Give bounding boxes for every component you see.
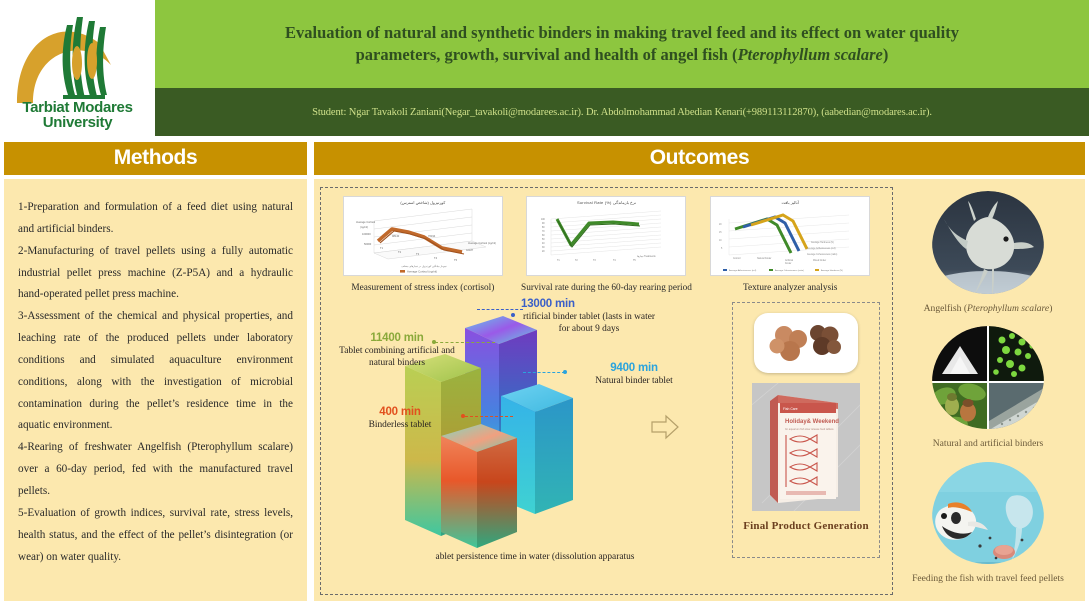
caption-pre-0: Angelfish ( [924, 303, 967, 314]
title-species-name: Pterophyllum scalare [738, 45, 883, 64]
logo-mark-icon [7, 3, 149, 108]
leader-line-artificial [477, 309, 523, 310]
svg-text:5: 5 [721, 248, 723, 250]
leader-line-combined [435, 342, 495, 343]
chart-bottom-caption: ablet persistence time in water (dissolu… [325, 552, 745, 562]
svg-text:20: 20 [719, 224, 722, 226]
svg-text:70: 70 [542, 231, 545, 233]
methods-item: 4-Rearing of freshwater Angelfish (Ptero… [18, 437, 293, 503]
authors-contact-line: Student: Ngar Tavakoli Zaniani(Negar_tav… [312, 107, 932, 118]
svg-text:تیمارها Treatments: تیمارها Treatments [637, 255, 657, 258]
svg-text:T5: T5 [633, 260, 636, 262]
svg-text:Fish Care: Fish Care [783, 407, 798, 411]
svg-text:Average Adhesiveness (mJ): Average Adhesiveness (mJ) [729, 269, 756, 272]
outcomes-dashed-frame: کورتیزول (شاخص استرس) [320, 187, 893, 595]
svg-text:50: 50 [542, 239, 545, 241]
section-header-outcomes: Outcomes [314, 142, 1085, 175]
feeding-photo-caption: Feeding the fish with travel feed pellet… [898, 573, 1078, 585]
svg-text:T3: T3 [593, 260, 596, 262]
svg-text:20: 20 [542, 251, 545, 253]
caption-species-0: Pterophyllum scalare [967, 303, 1049, 314]
product-package-icon: Fish Care Holiday& Weekend for aquarium … [752, 383, 860, 511]
university-logo: Tarbiat Modares University [0, 0, 155, 136]
svg-text:40: 40 [542, 243, 545, 245]
poster-body: 1-Preparation and formulation of a feed … [0, 175, 1089, 607]
mini-chart-texture: آنالیز بافت [704, 196, 876, 294]
mini-chart-survival: Survival Rate (%) نرخ بازماندگی [520, 196, 692, 294]
methods-panel: 1-Preparation and formulation of a feed … [4, 179, 307, 601]
tablet-persistence-chart: 13000 min rtificial binder tablet (lasts… [325, 296, 888, 564]
product-box-photo: Fish Care Holiday& Weekend for aquarium … [752, 383, 860, 511]
page-title: Evaluation of natural and synthetic bind… [285, 22, 959, 67]
header-text-column: Evaluation of natural and synthetic bind… [155, 0, 1089, 136]
cortisol-line-chart-icon: Average Cortisol (ng/ml) 10000050000 T1T… [344, 197, 503, 276]
callout-value-artificial: 13000 min [521, 298, 671, 310]
callout-desc-combined: Tablet combining artificial and natural … [329, 346, 465, 369]
mini-charts-row: کورتیزول (شاخص استرس) [325, 194, 888, 294]
callout-value-binderless: 400 min [337, 406, 463, 418]
svg-text:T5: T5 [454, 258, 458, 262]
svg-text:Average Cortisol (ng/ml): Average Cortisol (ng/ml) [407, 270, 437, 274]
photo-column: Angelfish (Pterophyllum scalare) [897, 187, 1079, 595]
texture-chart-title: آنالیز بافت [711, 200, 869, 205]
angelfish-photo-caption: Angelfish (Pterophyllum scalare) [898, 303, 1078, 315]
mini-chart-cortisol: کورتیزول (شاخص استرس) [337, 196, 509, 294]
leader-line-natural [523, 372, 565, 373]
binders-collage-image-icon [932, 326, 1044, 429]
title-band: Evaluation of natural and synthetic bind… [155, 0, 1089, 88]
svg-text:T4: T4 [613, 260, 616, 262]
methods-text-block: 1-Preparation and formulation of a feed … [18, 197, 293, 568]
outcomes-panel: کورتیزول (شاخص استرس) [314, 179, 1085, 601]
svg-text:10: 10 [719, 240, 722, 242]
svg-text:Average Hardness (N): Average Hardness (N) [811, 241, 834, 244]
title-line-2-post: ) [883, 45, 889, 64]
svg-text:T2: T2 [575, 260, 578, 262]
methods-item: 3-Assessment of the chemical and physica… [18, 306, 293, 437]
svg-text:15: 15 [719, 232, 722, 234]
svg-text:Holiday& Weekend: Holiday& Weekend [785, 419, 839, 425]
caption-post-0: ) [1049, 303, 1052, 314]
svg-text:42187: 42187 [466, 248, 474, 252]
svg-text:T4: T4 [434, 256, 438, 260]
methods-item: 5-Evaluation of growth indices, survival… [18, 503, 293, 569]
svg-text:Average Cortisol: Average Cortisol [356, 220, 376, 224]
section-header-bars: Methods Outcomes [0, 136, 1089, 175]
feeding-fish-image-icon [932, 462, 1044, 565]
svg-text:T1: T1 [380, 246, 384, 250]
callout-dot-artificial [511, 304, 515, 322]
svg-text:Natural binder: Natural binder [757, 257, 772, 260]
svg-text:Average Adhesiveness (mJ): Average Adhesiveness (mJ) [807, 247, 836, 250]
poster-root: Tarbiat Modares University Evaluation of… [0, 0, 1089, 613]
feeding-fish-photo [932, 462, 1044, 565]
survival-line-chart-icon: 1009080 706050 403020 T1T2T3 T4T5 تیماره… [527, 197, 686, 276]
svg-text:Control: Control [733, 257, 741, 260]
poster-header: Tarbiat Modares University Evaluation of… [0, 0, 1089, 136]
svg-text:Average Cohesiveness (ratio): Average Cohesiveness (ratio) [807, 253, 837, 256]
svg-text:Average Cohesiveness (ratio): Average Cohesiveness (ratio) [775, 269, 804, 272]
svg-text:80: 80 [542, 227, 545, 229]
survival-chart-title: Survival Rate (%) نرخ بازماندگی [527, 200, 685, 205]
bar-binderless [441, 424, 517, 548]
process-arrow-icon [650, 414, 680, 440]
angelfish-photo [932, 191, 1044, 294]
pellets-photo [754, 313, 858, 373]
caption-pre-2: Feeding the fish with travel feed pellet… [912, 573, 1064, 584]
svg-text:30: 30 [542, 247, 545, 249]
final-product-panel: Fish Care Holiday& Weekend for aquarium … [732, 302, 880, 558]
svg-text:binder: binder [785, 262, 792, 265]
callout-combined-binder: 11400 min Tablet combining artificial an… [329, 332, 465, 369]
svg-text:Mixed binder: Mixed binder [813, 259, 826, 262]
title-line-2-pre: parameters, growth, survival and health … [356, 45, 738, 64]
svg-text:Average Hardness (N): Average Hardness (N) [821, 269, 843, 272]
caption-pre-1: Natural and artificial binders [933, 438, 1044, 449]
svg-text:Average Cortisol (ng/ml): Average Cortisol (ng/ml) [468, 241, 496, 245]
pellet-cluster-icon [754, 313, 858, 373]
svg-text:(ng/ml): (ng/ml) [360, 225, 368, 229]
callout-binderless: 400 min Binderless tablet [337, 406, 463, 431]
svg-text:100000: 100000 [362, 232, 371, 236]
callout-natural-binder: 9400 min Natural binder tablet [568, 362, 700, 387]
logo-line-1: Tarbiat Modares [7, 100, 149, 116]
leader-line-binderless [465, 416, 513, 417]
svg-text:60: 60 [542, 235, 545, 237]
section-header-methods: Methods [4, 142, 307, 175]
texture-line-chart-icon: 2015105 ControlNatural binder Artificial… [711, 197, 870, 276]
svg-text:T1: T1 [557, 260, 560, 262]
survival-chart-frame: Survival Rate (%) نرخ بازماندگی [526, 196, 686, 276]
final-product-label: Final Product Generation [743, 520, 869, 532]
cortisol-chart-title: کورتیزول (شاخص استرس) [344, 200, 502, 205]
cortisol-chart-caption: Measurement of stress index (cortisol) [337, 283, 509, 294]
authors-band: Student: Ngar Tavakoli Zaniani(Negar_tav… [155, 88, 1089, 136]
svg-text:for aquarium fish slow release: for aquarium fish slow release food tabl… [785, 427, 834, 431]
svg-text:Artificial: Artificial [785, 259, 794, 262]
survival-chart-caption: Survival rate during the 60-day rearing … [520, 283, 692, 294]
svg-text:90: 90 [542, 223, 545, 225]
methods-item: 2-Manufacturing of travel pellets using … [18, 241, 293, 307]
svg-text:50000: 50000 [364, 242, 372, 246]
svg-text:نمودار میانگین کورتیزول در تیم: نمودار میانگین کورتیزول در تیمارهای مختل… [401, 264, 447, 268]
callout-artificial-binder: 13000 min rtificial binder tablet (lasts… [521, 298, 671, 335]
angelfish-image-icon [932, 191, 1044, 294]
svg-text:76194: 76194 [428, 234, 436, 238]
svg-text:98140: 98140 [392, 234, 400, 238]
callout-value-natural: 9400 min [568, 362, 700, 374]
callout-desc-artificial: rtificial binder tablet (lasts in water … [521, 312, 657, 335]
svg-text:100: 100 [541, 219, 546, 221]
logo-line-2: University [7, 115, 149, 131]
title-line-1: Evaluation of natural and synthetic bind… [285, 23, 959, 42]
binders-collage-photo [932, 326, 1044, 429]
binders-photo-caption: Natural and artificial binders [898, 438, 1078, 450]
logo-wordmark: Tarbiat Modares University [7, 100, 149, 132]
callout-desc-binderless: Binderless tablet [337, 420, 463, 431]
callout-desc-natural: Natural binder tablet [568, 376, 700, 387]
cortisol-chart-frame: کورتیزول (شاخص استرس) [343, 196, 503, 276]
texture-chart-caption: Texture analyzer analysis [704, 283, 876, 294]
texture-chart-frame: آنالیز بافت [710, 196, 870, 276]
methods-item: 1-Preparation and formulation of a feed … [18, 197, 293, 241]
